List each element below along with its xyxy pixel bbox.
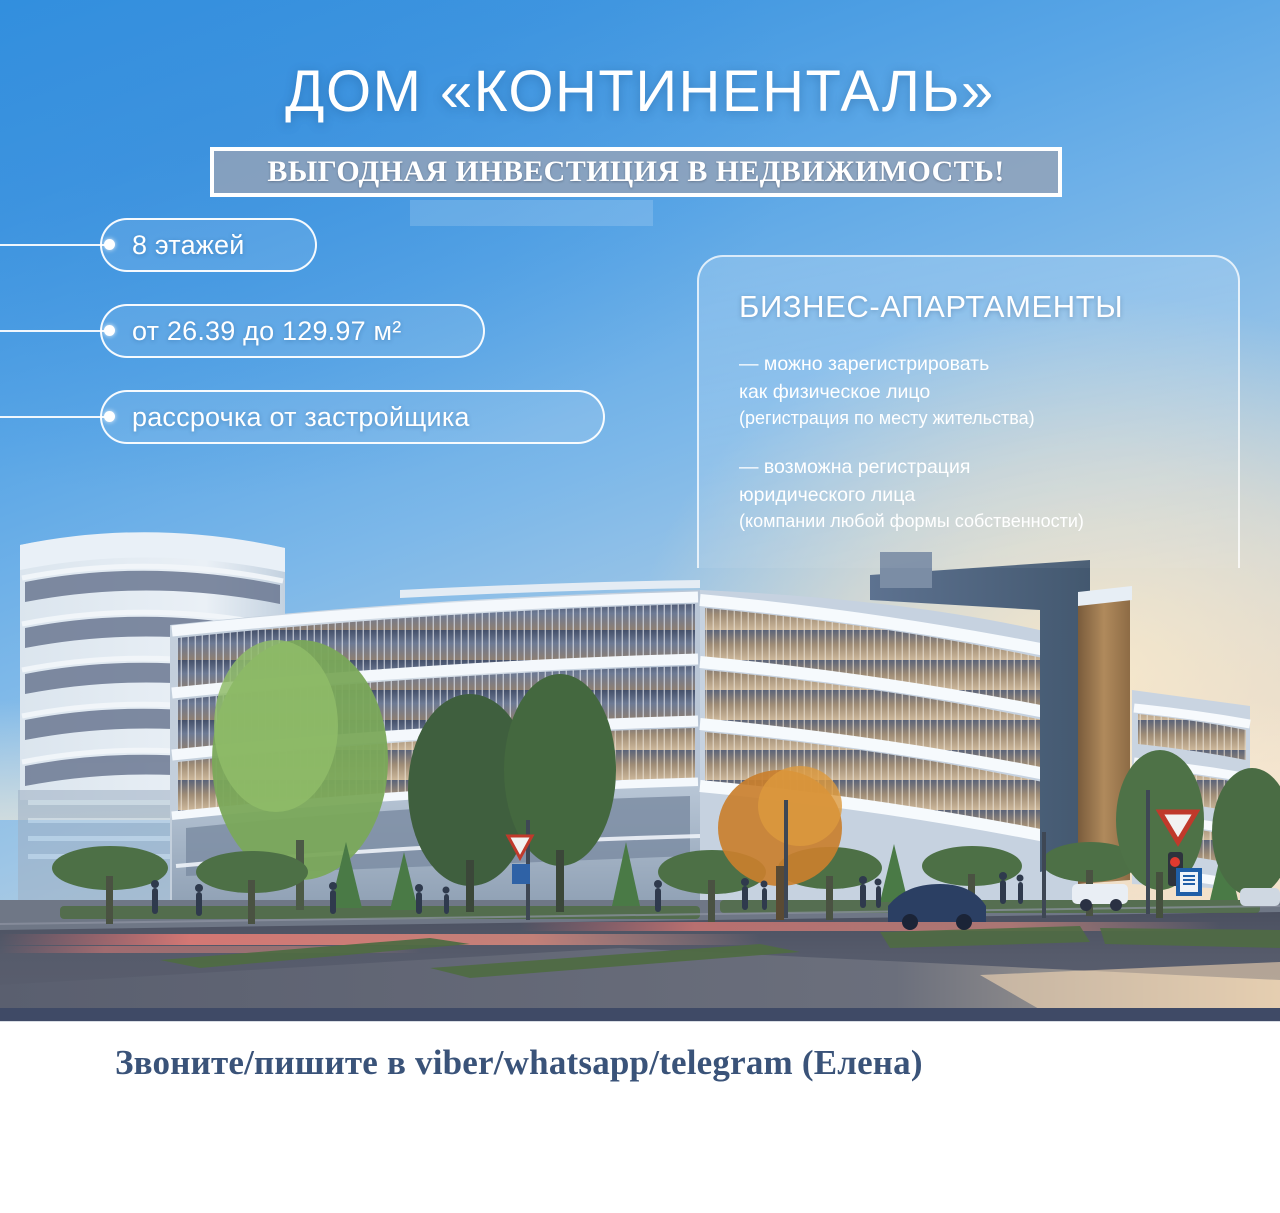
feature-pill-area[interactable]: от 26.39 до 129.97 м²	[100, 304, 485, 358]
feature-pill-row: 8 этажей	[0, 218, 700, 304]
feature-pill-row: от 26.39 до 129.97 м²	[0, 304, 700, 390]
feature-pill-installment[interactable]: рассрочка от застройщика	[100, 390, 605, 444]
caption-area: Звоните/пишите в viber/whatsapp/telegram…	[0, 1021, 1280, 1213]
panel-block-individual: — можно зарегистрировать как физическое …	[739, 351, 1198, 432]
panel-line: — можно зарегистрировать	[739, 351, 1198, 379]
highlight-banner-text: ВЫГОДНАЯ ИНВЕСТИЦИЯ В НЕДВИЖИМОСТЬ!	[267, 155, 1004, 189]
panel-line-note: (компании любой формы собственности)	[739, 509, 1198, 535]
panel-line-note: (регистрация по месту жительства)	[739, 406, 1198, 432]
ad-page: ДОМ «КОНТИНЕНТАЛЬ» ВЫГОДНАЯ ИНВЕСТИЦИЯ В…	[0, 0, 1280, 1213]
connector-line	[0, 330, 112, 332]
panel-heading: БИЗНЕС-АПАРТАМЕНТЫ	[739, 289, 1198, 325]
connector-line	[0, 416, 112, 418]
feature-pill-label: рассрочка от застройщика	[132, 402, 470, 433]
highlight-banner: ВЫГОДНАЯ ИНВЕСТИЦИЯ В НЕДВИЖИМОСТЬ!	[210, 147, 1062, 197]
feature-pill-row: рассрочка от застройщика	[0, 390, 700, 476]
feature-pill-label: 8 этажей	[132, 230, 245, 261]
divider	[0, 1021, 1280, 1022]
contact-caption: Звоните/пишите в viber/whatsapp/telegram…	[115, 1043, 923, 1083]
hero-creative: ДОМ «КОНТИНЕНТАЛЬ» ВЫГОДНАЯ ИНВЕСТИЦИЯ В…	[0, 0, 1280, 1021]
panel-line: — возможна регистрация	[739, 454, 1198, 482]
feature-pill-label: от 26.39 до 129.97 м²	[132, 316, 401, 347]
feature-pill-list: 8 этажей от 26.39 до 129.97 м² рассрочка…	[0, 218, 700, 476]
feature-pill-floors[interactable]: 8 этажей	[100, 218, 317, 272]
business-apartments-panel: БИЗНЕС-АПАРТАМЕНТЫ — можно зарегистриров…	[697, 255, 1240, 568]
connector-line	[0, 244, 112, 246]
panel-line: юридического лица	[739, 482, 1198, 510]
panel-line: как физическое лицо	[739, 379, 1198, 407]
page-title: ДОМ «КОНТИНЕНТАЛЬ»	[0, 62, 1280, 121]
panel-block-legal-entity: — возможна регистрация юридического лица…	[739, 454, 1198, 535]
